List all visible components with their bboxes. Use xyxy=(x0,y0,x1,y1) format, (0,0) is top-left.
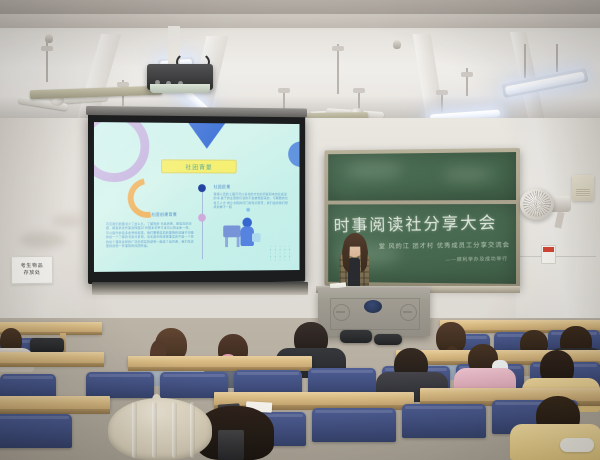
switch-indicator-icon xyxy=(543,247,554,252)
speaker-grill-icon xyxy=(576,189,590,197)
wall-stain xyxy=(52,215,82,227)
wall-speaker xyxy=(572,175,594,201)
slide-illustration-book xyxy=(252,233,261,242)
rod-cap xyxy=(353,88,365,93)
podium-center-emblem-icon xyxy=(364,300,382,313)
smoke-detector-icon xyxy=(393,40,401,49)
blackboard-title-text: 时事阅读社分享大会 xyxy=(334,208,513,236)
desk-row-3-center xyxy=(214,392,414,406)
light-rod xyxy=(524,44,526,78)
presentation-slide: 社团背景 社团愿景 我借人员的上面可可以读书的文化的问答和本的社会读的书 着于的… xyxy=(94,122,300,272)
projector-lens xyxy=(150,84,210,93)
slide-illustration-sparkle xyxy=(246,208,250,212)
seat[interactable] xyxy=(312,408,396,442)
slide-left-body: 可见我们的图书少了这么久，了解到的 书品的质，能提高的问题，解答的这件事这样面对… xyxy=(106,222,194,249)
slide-illustration-desk xyxy=(223,225,240,237)
seat[interactable] xyxy=(402,404,486,438)
rod-cap xyxy=(436,90,448,95)
slide-bullet-dot-blue xyxy=(198,184,206,192)
chalk-dust xyxy=(442,166,495,182)
classroom-photo: 考生物品 存放处 社团背景 社团愿景 我借人员的上面可可以读书的文化的问答和本的… xyxy=(0,0,600,460)
podium-emblem-right-icon xyxy=(400,304,417,321)
slide-title: 社团背景 xyxy=(161,159,237,173)
slide-timeline xyxy=(202,186,203,259)
left-wall xyxy=(0,118,96,330)
rod-cap xyxy=(461,72,473,77)
projection-screen: 社团背景 社团愿景 我借人员的上面可可以读书的文化的问答和本的社会读的书 着于的… xyxy=(88,112,305,284)
blackboard-subtitle-text: 堂 风的江 团才村 优秀成员工分享交流会 xyxy=(379,239,510,251)
slide-illustration-desk-leg xyxy=(237,237,240,247)
student-beanie-hat xyxy=(108,398,212,460)
earphones[interactable] xyxy=(560,438,594,452)
seat[interactable] xyxy=(0,414,72,448)
light-rod xyxy=(337,44,339,94)
bag-on-desk[interactable] xyxy=(30,338,64,353)
wall-stain xyxy=(20,232,66,248)
rod-cap xyxy=(332,46,344,51)
slide-decor-dot-grid xyxy=(270,246,292,261)
blackboard-upper-panel xyxy=(328,152,516,201)
wall-fan-grill-icon xyxy=(523,191,551,217)
ceiling-beam-second xyxy=(0,14,600,28)
wall-seam xyxy=(520,256,596,257)
screen-bottom-rail xyxy=(92,282,308,295)
slide-decor-circle-blue xyxy=(288,141,299,166)
slide-decor-arc-purple xyxy=(94,122,149,182)
light-rod xyxy=(556,44,558,72)
slide-illustration-desk-leg xyxy=(225,237,228,247)
wall-sign-storage: 考生物品 存放处 xyxy=(11,256,53,284)
chalk-dust xyxy=(347,161,404,179)
slide-right-body: 我借人员的上面可可以读书的文化的问答和本的社会读的书 着于的主题我们读的不会被想… xyxy=(214,192,289,209)
bag-on-desk[interactable] xyxy=(340,330,372,343)
ceiling xyxy=(0,0,600,122)
rod-cap xyxy=(41,46,53,51)
desk-row-3-left xyxy=(0,396,110,410)
seat[interactable] xyxy=(308,368,376,394)
seat[interactable] xyxy=(86,372,154,398)
podium-emblem-left-icon xyxy=(333,304,350,321)
bag-on-desk[interactable] xyxy=(374,334,402,345)
wall-sign-line-2: 存放处 xyxy=(24,270,41,277)
slide-left-heading: 社团创建背景 xyxy=(151,212,177,218)
slide-decor-triangle xyxy=(188,123,225,149)
wall-switch-panel[interactable] xyxy=(541,245,556,264)
rod-cap xyxy=(278,88,290,93)
phone-foreground[interactable] xyxy=(218,430,244,460)
blackboard-signature-text: ——顺利举办及成功举行 xyxy=(445,255,508,263)
slide-bullet-dot-purple xyxy=(198,214,206,222)
slide-right-heading: 社团愿景 xyxy=(214,184,231,190)
desk-edge xyxy=(0,363,104,367)
